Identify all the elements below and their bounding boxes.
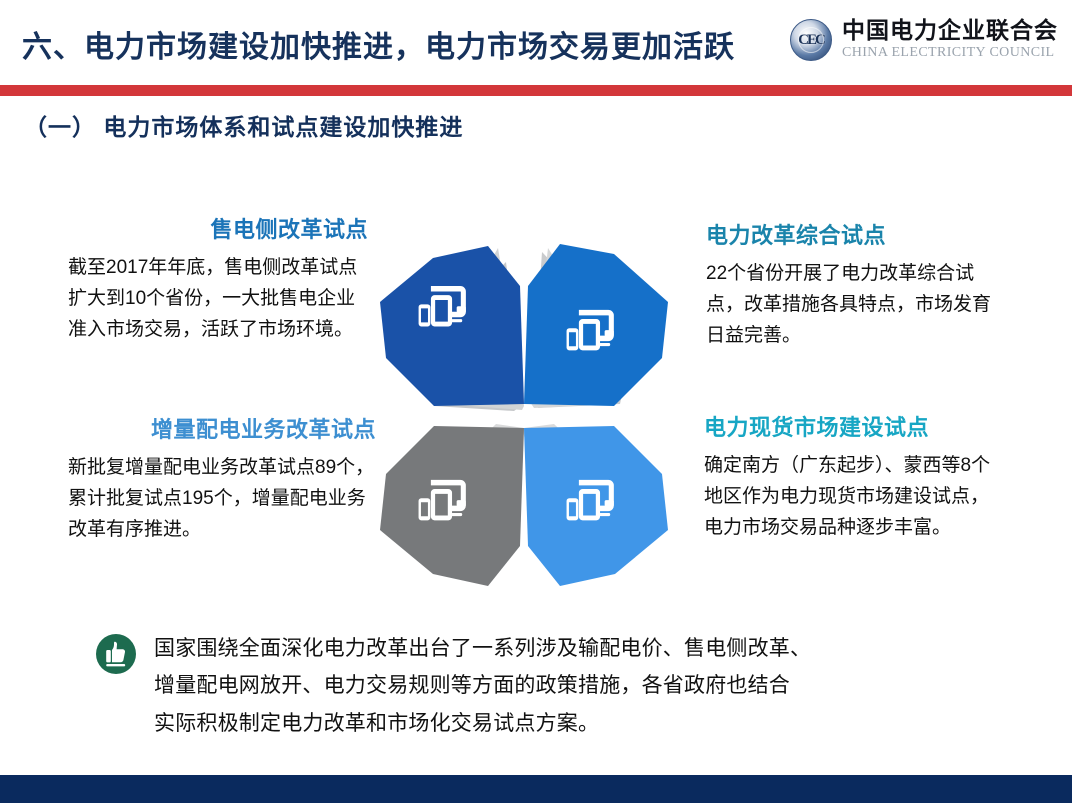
block-incremental-distribution-reform: 增量配电业务改革试点 新批复增量配电业务改革试点89个，累计批复试点195个，增… xyxy=(68,412,376,545)
block-body-spot-market-pilot: 确定南方（广东起步）、蒙西等8个地区作为电力现货市场建设试点，电力市场交易品种逐… xyxy=(704,451,1004,543)
cec-seal-letters: CEC xyxy=(791,20,831,60)
cec-logo-text: 中国电力企业联合会 CHINA ELECTRICITY COUNCIL xyxy=(842,18,1058,61)
note-line-1: 国家围绕全面深化电力改革出台了一系列涉及输配电价、售电侧改革、 xyxy=(154,630,811,667)
block-spot-market-pilot: 电力现货市场建设试点 确定南方（广东起步）、蒙西等8个地区作为电力现货市场建设试… xyxy=(704,410,1004,543)
block-heading-comprehensive-reform: 电力改革综合试点 xyxy=(706,218,1006,250)
section-subtitle: （一） 电力市场体系和试点建设加快推进 xyxy=(24,108,463,142)
page-title: 六、电力市场建设加快推进，电力市场交易更加活跃 xyxy=(22,22,735,66)
note-text: 国家围绕全面深化电力改革出台了一系列涉及输配电价、售电侧改革、 增量配电网放开、… xyxy=(154,630,811,742)
pinwheel-diagram xyxy=(338,228,710,608)
block-body-incremental-distribution-reform: 新批复增量配电业务改革试点89个，累计批复试点195个，增量配电业务改革有序推进… xyxy=(68,453,376,545)
note-line-2: 增量配电网放开、电力交易规则等方面的政策措施，各省政府也结合 xyxy=(154,667,811,704)
slide-header: 六、电力市场建设加快推进，电力市场交易更加活跃 CEC 中国电力企业联合会 CH… xyxy=(0,0,1072,86)
pinwheel-petal-bottom-right[interactable] xyxy=(524,424,668,586)
block-body-comprehensive-reform: 22个省份开展了电力改革综合试点，改革措施各具特点，市场发育日益完善。 xyxy=(706,259,1006,351)
header-divider xyxy=(0,85,1072,96)
slide-root: 六、电力市场建设加快推进，电力市场交易更加活跃 CEC 中国电力企业联合会 CH… xyxy=(0,0,1072,803)
cec-seal-icon: CEC xyxy=(790,19,832,61)
thumbs-up-icon xyxy=(96,634,136,674)
cec-logo: CEC 中国电力企业联合会 CHINA ELECTRICITY COUNCIL xyxy=(790,18,1058,61)
petal-shape-top-left xyxy=(380,246,524,406)
pinwheel-petal-bottom-left[interactable] xyxy=(380,424,524,586)
pinwheel-petal-top-left[interactable] xyxy=(380,246,524,411)
cec-name-cn: 中国电力企业联合会 xyxy=(842,18,1058,42)
cec-name-en: CHINA ELECTRICITY COUNCIL xyxy=(842,45,1058,61)
block-sales-side-reform: 售电侧改革试点 截至2017年年底，售电侧改革试点扩大到10个省份，一大批售电企… xyxy=(68,212,368,345)
block-comprehensive-reform: 电力改革综合试点 22个省份开展了电力改革综合试点，改革措施各具特点，市场发育日… xyxy=(706,218,1006,351)
block-heading-sales-side-reform: 售电侧改革试点 xyxy=(68,212,368,244)
pinwheel-petal-top-right[interactable] xyxy=(524,244,668,408)
footer-bar xyxy=(0,775,1072,803)
note-callout: 国家围绕全面深化电力改革出台了一系列涉及输配电价、售电侧改革、 增量配电网放开、… xyxy=(96,630,1016,742)
note-line-3: 实际积极制定电力改革和市场化交易试点方案。 xyxy=(154,705,811,742)
block-body-sales-side-reform: 截至2017年年底，售电侧改革试点扩大到10个省份，一大批售电企业准入市场交易，… xyxy=(68,253,368,345)
block-heading-spot-market-pilot: 电力现货市场建设试点 xyxy=(704,410,1004,442)
block-heading-incremental-distribution-reform: 增量配电业务改革试点 xyxy=(68,412,376,444)
